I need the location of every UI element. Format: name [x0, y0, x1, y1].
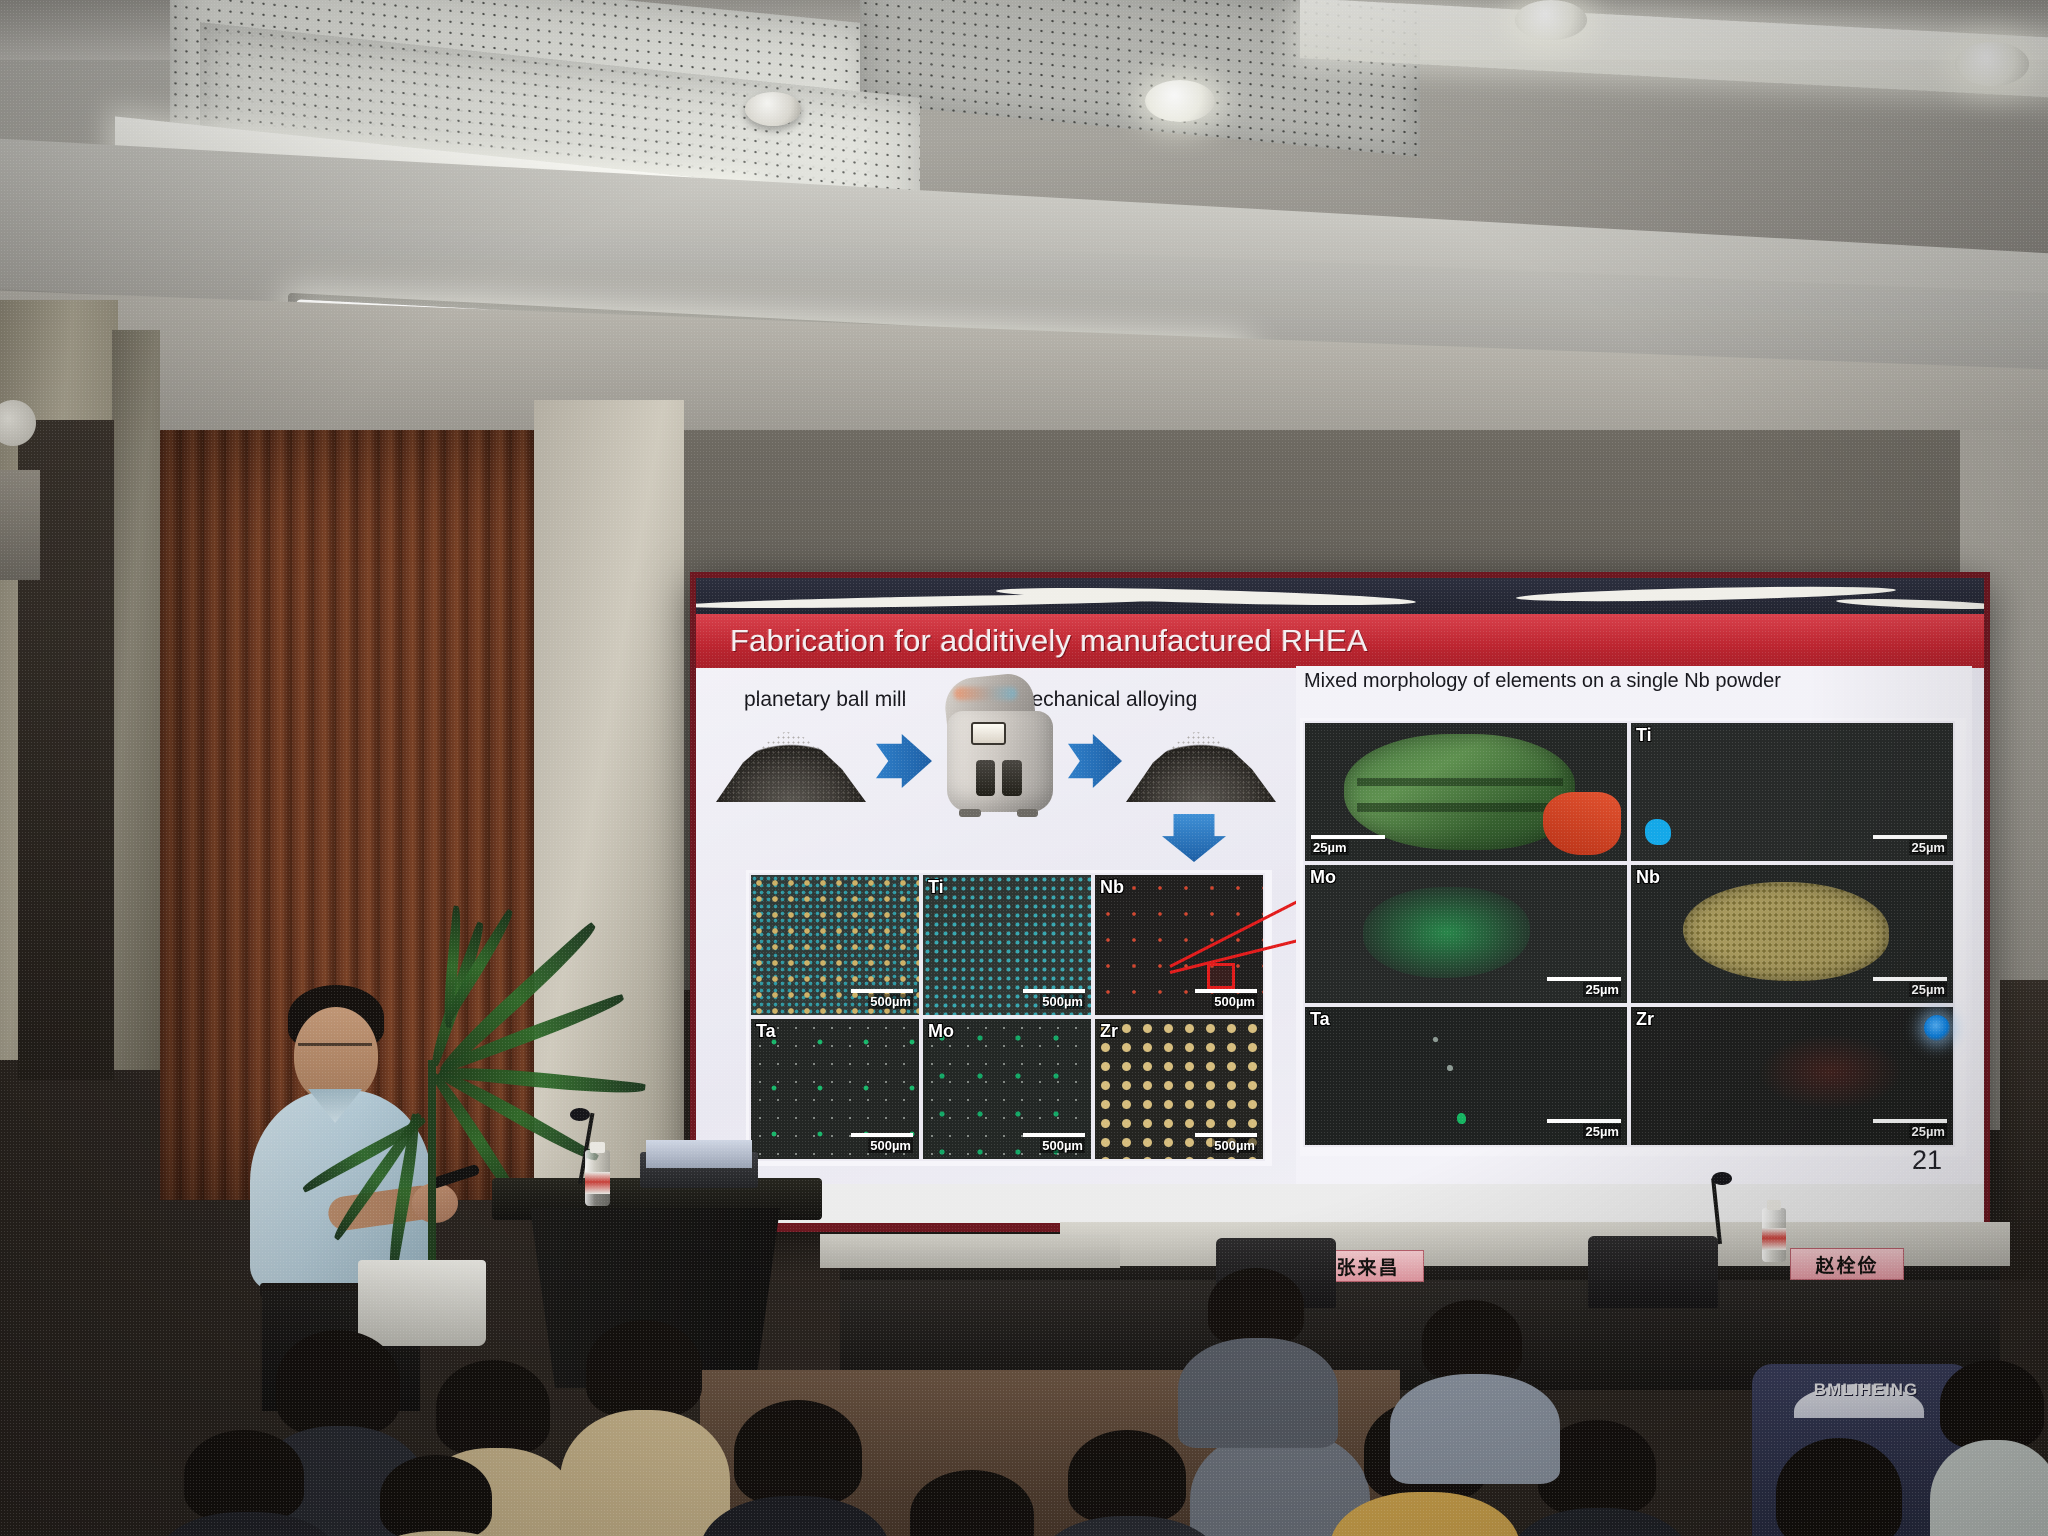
mo-signal-region [1363, 887, 1530, 978]
lecture-hall-photo: Fabrication for additively manufactured … [0, 0, 2048, 1536]
stage-riser [820, 1234, 1120, 1268]
process-arrow-1 [876, 734, 932, 788]
ceiling-downlight-3 [1955, 42, 2029, 86]
right-panel-heading: Mixed morphology of elements on a single… [1304, 670, 1952, 694]
ta-signal-speck-3 [1457, 1113, 1466, 1124]
scale-bar: 500µm [851, 1133, 913, 1155]
eds-tile-zr-low: Zr 500µm [1093, 1017, 1265, 1161]
sem-tile-nb: Nb 25µm [1629, 863, 1955, 1005]
eds-tile-mo-low: Mo 500µm [921, 1017, 1093, 1161]
eds-tile-ti-low: Ti 500µm [921, 873, 1093, 1017]
eds-map-grid-high-mag: 25µm Ti 25µm [1300, 718, 1966, 1156]
slide-swoosh-4 [1836, 597, 1984, 611]
sem-tile-ti: Ti 25µm [1629, 721, 1955, 863]
tile-label: Mo [1310, 867, 1336, 888]
ti-signal-blob [1645, 819, 1671, 845]
bottle-label [585, 1172, 610, 1194]
microphone-head-icon [570, 1108, 590, 1121]
scale-bar: 25µm [1873, 977, 1947, 999]
nb-particle-image [1344, 734, 1576, 850]
slide-swoosh-2 [996, 585, 1416, 609]
eds-map-grid-low-mag: 500µm Ti 500µm [746, 870, 1272, 1166]
scale-bar: 25µm [1547, 1119, 1621, 1141]
scale-bar: 500µm [1023, 989, 1085, 1011]
sem-tile-zr: Zr 25µm [1629, 1005, 1955, 1147]
powder-heap-after [1126, 720, 1276, 802]
audience-member [356, 1455, 526, 1536]
bottle-cap [590, 1142, 605, 1153]
sem-tile-ta: Ta 25µm [1303, 1005, 1629, 1147]
bottle-label-panel [1762, 1228, 1786, 1250]
process-arrow-2 [1068, 734, 1122, 788]
nameplate-left-text: 张来昌 [1336, 1253, 1399, 1280]
ta-signal-speck [1433, 1037, 1438, 1042]
audience-member [1930, 1360, 2048, 1536]
tile-label: Ti [1636, 725, 1652, 746]
audience-member [158, 1430, 338, 1536]
slide-page-number: 21 [1912, 1145, 1942, 1176]
process-arrow-down [1162, 814, 1226, 862]
shirt-logo-text: BMLIHEING [1796, 1380, 1936, 1400]
audience-member [700, 1400, 890, 1536]
eds-tile-mix-overlay: 500µm [749, 873, 921, 1017]
scale-bar: 500µm [851, 989, 913, 1011]
flow-label-left: planetary ball mill [744, 688, 906, 712]
panel-microphone-head-icon [1712, 1172, 1732, 1185]
projection-screen-frame: Fabrication for additively manufactured … [690, 572, 1990, 1232]
smoke-detector-icon [745, 92, 801, 126]
nameplate-right-text: 赵栓俭 [1815, 1251, 1878, 1278]
scale-bar: 25µm [1873, 1119, 1947, 1141]
wall-left-plate [0, 470, 40, 580]
roi-red-box [1207, 963, 1235, 989]
scale-bar: 500µm [1195, 989, 1257, 1011]
tile-label: Ta [1310, 1009, 1330, 1030]
slide-body: planetary ball mill mechanical alloying [696, 668, 1984, 1184]
tile-label: Nb [1100, 877, 1124, 898]
slide-title: Fabrication for additively manufactured … [730, 623, 1368, 659]
tile-label: Zr [1636, 1009, 1654, 1030]
powder-heap-before [716, 720, 866, 802]
scale-bar: 25µm [1311, 835, 1385, 857]
eds-tile-nb-low: Nb 500µm [1093, 873, 1265, 1017]
scale-bar: 500µm [1023, 1133, 1085, 1155]
scale-bar: 500µm [1195, 1133, 1257, 1155]
bottle-cap-panel [1767, 1200, 1781, 1210]
planetary-ball-mill-photo [940, 676, 1060, 812]
ceiling-downlight-2 [1515, 0, 1587, 40]
sem-tile-overlay: 25µm [1303, 721, 1629, 863]
sem-tile-mo: Mo 25µm [1303, 863, 1629, 1005]
panelist-seated [1178, 1268, 1338, 1418]
ceiling-downlight-1 [1145, 80, 1215, 122]
panel-chair-right [1588, 1236, 1718, 1308]
panelist-seated [1390, 1300, 1560, 1450]
eds-tile-ta-low: Ta 500µm [749, 1017, 921, 1161]
tile-label: Mo [928, 1021, 954, 1042]
wall-left-column-inner [112, 330, 160, 1070]
projected-slide[interactable]: Fabrication for additively manufactured … [696, 578, 1984, 1223]
nameplate-right: 赵栓俭 [1790, 1248, 1904, 1280]
scale-bar: 25µm [1873, 835, 1947, 857]
ta-signal-speck-2 [1447, 1065, 1453, 1071]
scale-bar: 25µm [1547, 977, 1621, 999]
tile-label: Ta [756, 1021, 776, 1042]
oxide-region [1543, 792, 1620, 855]
tile-label: Zr [1100, 1021, 1118, 1042]
laptop-screen [646, 1140, 752, 1168]
right-panel: Mixed morphology of elements on a single… [1296, 666, 1972, 1184]
tile-label: Nb [1636, 867, 1660, 888]
tile-label: Ti [928, 877, 944, 898]
laser-pointer-dot-icon [1924, 1015, 1950, 1041]
